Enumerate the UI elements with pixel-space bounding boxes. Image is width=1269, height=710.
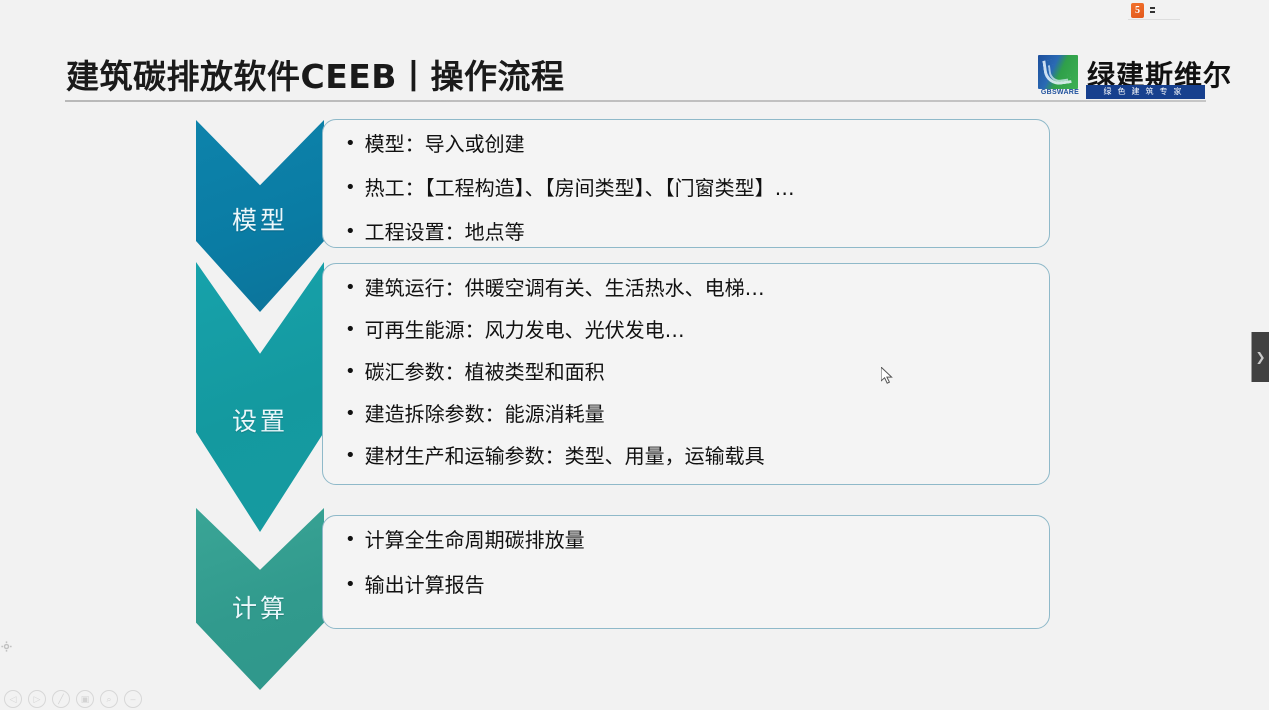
bullet-icon: • bbox=[345, 363, 356, 381]
screenshot-button[interactable]: ▣ bbox=[76, 690, 94, 708]
flow-step-label: 模型 bbox=[232, 201, 288, 237]
flow-step-card-model: • 模型：导入或创建 • 热工：【工程构造】、【房间类型】、【门窗类型】… • … bbox=[322, 119, 1050, 248]
zoom-button[interactable]: ⌕ bbox=[100, 690, 118, 708]
list-item-text: 工程设置：地点等 bbox=[365, 222, 525, 242]
bullet-icon: • bbox=[345, 223, 356, 241]
flow-step-card-calculate: • 计算全生命周期碳排放量 • 输出计算报告 bbox=[322, 515, 1050, 629]
list-item: • 建材生产和运输参数：类型、用量，运输载具 bbox=[345, 446, 1027, 466]
list-item-text: 热工：【工程构造】、【房间类型】、【门窗类型】… bbox=[365, 178, 795, 198]
logo-latin-name: GBSWARE bbox=[1038, 89, 1082, 96]
gbsware-logo-icon bbox=[1038, 55, 1078, 89]
list-item-text: 建造拆除参数：能源消耗量 bbox=[365, 404, 605, 424]
flow-step-label: 计算 bbox=[232, 589, 288, 625]
flow-step-card-settings: • 建筑运行：供暖空调有关、生活热水、电梯… • 可再生能源：风力发电、光伏发电… bbox=[322, 263, 1050, 485]
presentation-slide: 建筑碳排放软件CEEB丨操作流程 GBSWARE 绿建斯维尔 绿色建筑专家 模型… bbox=[0, 0, 1269, 710]
title-divider bbox=[65, 100, 1206, 102]
list-item-text: 碳汇参数：植被类型和面积 bbox=[365, 362, 605, 382]
bullet-icon: • bbox=[345, 135, 356, 153]
logo-tagline: 绿色建筑专家 bbox=[1086, 85, 1205, 99]
bullet-icon: • bbox=[345, 321, 356, 339]
player-toolbar: ◁ ▷ ╱ ▣ ⌕ – bbox=[4, 690, 142, 708]
list-item: • 建造拆除参数：能源消耗量 bbox=[345, 404, 1027, 424]
bullet-icon: • bbox=[345, 179, 356, 197]
page-title: 建筑碳排放软件CEEB丨操作流程 bbox=[66, 50, 564, 98]
bullet-icon: • bbox=[345, 279, 356, 297]
play-button[interactable]: ▷ bbox=[28, 690, 46, 708]
gear-icon[interactable] bbox=[1, 641, 12, 652]
bullet-icon: • bbox=[345, 531, 356, 549]
list-item: • 热工：【工程构造】、【房间类型】、【门窗类型】… bbox=[345, 178, 1027, 198]
list-item: • 可再生能源：风力发电、光伏发电… bbox=[345, 320, 1027, 340]
list-item: • 输出计算报告 bbox=[345, 575, 1027, 595]
list-item: • 建筑运行：供暖空调有关、生活热水、电梯… bbox=[345, 278, 1027, 298]
list-item: • 计算全生命周期碳排放量 bbox=[345, 530, 1027, 550]
previous-button[interactable]: ◁ bbox=[4, 690, 22, 708]
list-item-text: 建材生产和运输参数：类型、用量，运输载具 bbox=[365, 446, 765, 466]
list-item-text: 建筑运行：供暖空调有关、生活热水、电梯… bbox=[365, 278, 765, 298]
list-item: • 碳汇参数：植被类型和面积 bbox=[345, 362, 1027, 382]
flow-step-label: 设置 bbox=[232, 402, 288, 438]
list-item-text: 模型：导入或创建 bbox=[365, 134, 525, 154]
list-item: • 工程设置：地点等 bbox=[345, 222, 1027, 242]
pen-button[interactable]: ╱ bbox=[52, 690, 70, 708]
bullet-icon: • bbox=[345, 447, 356, 465]
brand-logo: GBSWARE 绿建斯维尔 绿色建筑专家 bbox=[1038, 55, 1206, 101]
flow-step-chevron-model: 模型 bbox=[196, 120, 324, 312]
list-item-text: 可再生能源：风力发电、光伏发电… bbox=[365, 320, 685, 340]
list-item-text: 输出计算报告 bbox=[365, 575, 485, 595]
flow-step-chevron-calculate: 计算 bbox=[196, 508, 324, 690]
bullet-icon: • bbox=[345, 405, 356, 423]
list-item: • 模型：导入或创建 bbox=[345, 134, 1027, 154]
list-item-text: 计算全生命周期碳排放量 bbox=[365, 530, 585, 550]
bullet-icon: • bbox=[345, 576, 356, 594]
mouse-cursor bbox=[881, 367, 895, 385]
minimize-button[interactable]: – bbox=[124, 690, 142, 708]
